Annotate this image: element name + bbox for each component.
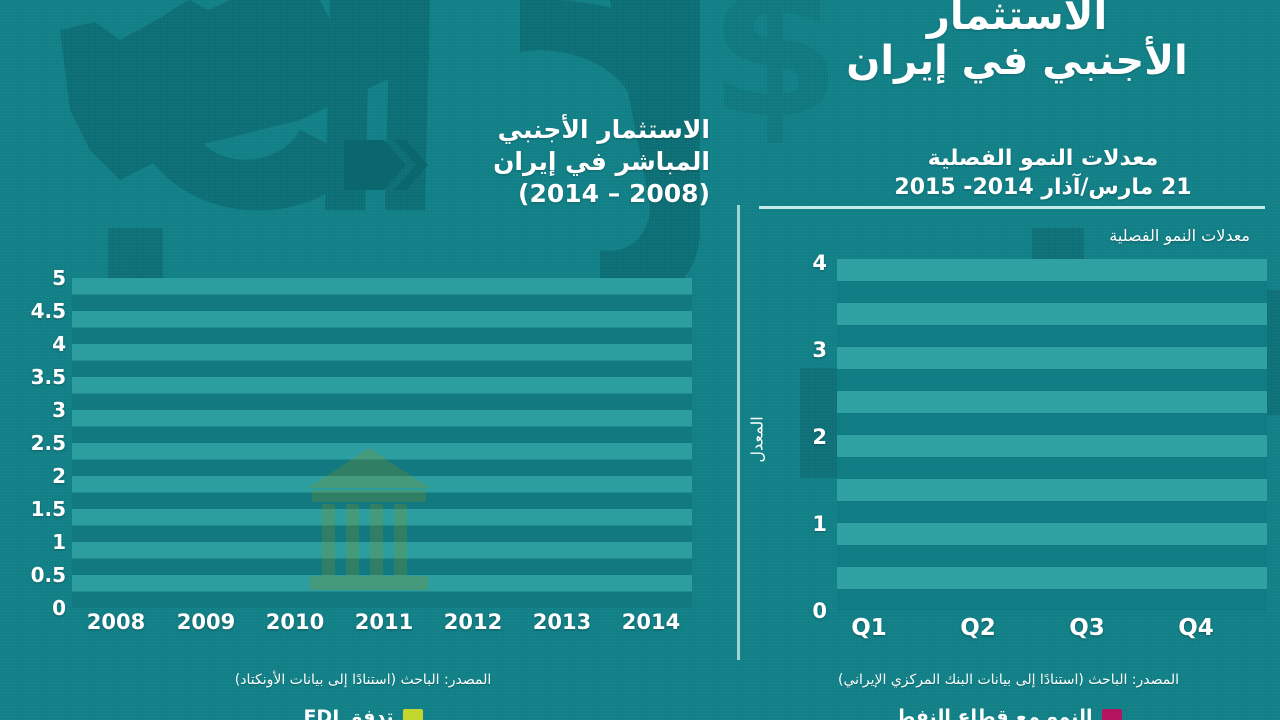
right-chart-panel: معدلات النمو الفصلية 21 مارس/آذار 2014- … — [737, 0, 1280, 720]
left-x-tick-2008: 2008 — [87, 610, 145, 634]
left-y-tick-1-5: 1.5 — [31, 497, 66, 521]
left-x-tick-2010: 2010 — [266, 610, 324, 634]
right-source-note: المصدر: الباحث (استنادًا إلى بيانات البن… — [737, 672, 1280, 688]
left-chart-legend: تدفق FDI — [0, 704, 726, 720]
left-y-tick-0-5: 0.5 — [31, 563, 66, 587]
left-x-tick-2013: 2013 — [533, 610, 591, 634]
left-y-tick-5: 5 — [52, 266, 66, 290]
right-chart-bands — [837, 259, 1267, 611]
left-x-tick-2014: 2014 — [622, 610, 680, 634]
right-chart-title-line-1: معدلات النمو الفصلية — [828, 145, 1258, 174]
right-x-tick-q2: Q2 — [960, 615, 996, 641]
left-chart-y-axis-labels: 5 4.5 4 3.5 3 2.5 2 1.5 1 0.5 0 — [14, 258, 66, 608]
right-chart-y-axis-title: المعدل — [748, 416, 767, 462]
left-chart-x-axis-labels: 2008 2009 2010 2011 2012 2013 2014 — [72, 610, 692, 644]
legend-swatch-fdi — [403, 709, 423, 720]
right-x-tick-q4: Q4 — [1178, 615, 1214, 641]
right-chart-x-axis-labels: Q1 Q2 Q3 Q4 — [837, 615, 1267, 649]
left-y-tick-2-5: 2.5 — [31, 431, 66, 455]
left-y-tick-4: 4 — [52, 332, 66, 356]
legend-label-oil-growth: النمو مع قطاع النفط — [895, 706, 1092, 720]
chevron-right-icon — [344, 134, 430, 196]
right-y-tick-1: 1 — [812, 512, 827, 536]
legend-label-fdi: تدفق FDI — [303, 706, 393, 720]
left-y-tick-1: 1 — [52, 530, 66, 554]
left-y-tick-3-5: 3.5 — [31, 365, 66, 389]
right-chart-caption: معدلات النمو الفصلية — [1109, 226, 1250, 245]
left-x-tick-2011: 2011 — [355, 610, 413, 634]
page-title-line-2: الأجنبي في إيران — [782, 39, 1252, 84]
bank-building-icon — [304, 444, 434, 594]
left-y-tick-2: 2 — [52, 464, 66, 488]
right-chart-plot-area — [837, 259, 1267, 611]
page-title: الاستثمار الأجنبي في إيران — [782, 0, 1252, 84]
right-chart-title-line-2: 21 مارس/آذار 2014- 2015 — [828, 174, 1258, 203]
infographic-root: $ الاستثمار الأجنبي في إيران الاستثمار ا… — [0, 0, 1280, 720]
right-chart-title: معدلات النمو الفصلية 21 مارس/آذار 2014- … — [828, 145, 1258, 202]
left-chart-title: الاستثمار الأجنبي المباشر في إيران (2008… — [430, 114, 710, 210]
left-chart-panel: الاستثمار الأجنبي المباشر في إيران (2008… — [0, 0, 726, 720]
right-y-tick-3: 3 — [812, 338, 827, 362]
right-chart-legend: النمو مع قطاع النفط — [737, 704, 1280, 720]
right-x-tick-q1: Q1 — [851, 615, 887, 641]
right-y-tick-0: 0 — [812, 599, 827, 623]
right-chart-top-rule — [759, 206, 1265, 209]
panel-divider — [737, 205, 740, 660]
left-y-tick-3: 3 — [52, 398, 66, 422]
page-title-line-1: الاستثمار — [782, 0, 1252, 39]
right-y-tick-4: 4 — [812, 251, 827, 275]
right-chart: 4 3 2 1 0 Q1 Q2 Q3 Q4 — [767, 255, 1267, 655]
left-x-tick-2012: 2012 — [444, 610, 502, 634]
left-x-tick-2009: 2009 — [177, 610, 235, 634]
right-x-tick-q3: Q3 — [1069, 615, 1105, 641]
legend-swatch-oil-growth — [1102, 709, 1122, 720]
left-y-tick-4-5: 4.5 — [31, 299, 66, 323]
right-chart-y-axis-labels: 4 3 2 1 0 — [797, 255, 827, 605]
left-source-note: المصدر: الباحث (استنادًا إلى بيانات الأو… — [0, 672, 726, 688]
left-y-tick-0: 0 — [52, 596, 66, 620]
right-y-tick-2: 2 — [812, 425, 827, 449]
